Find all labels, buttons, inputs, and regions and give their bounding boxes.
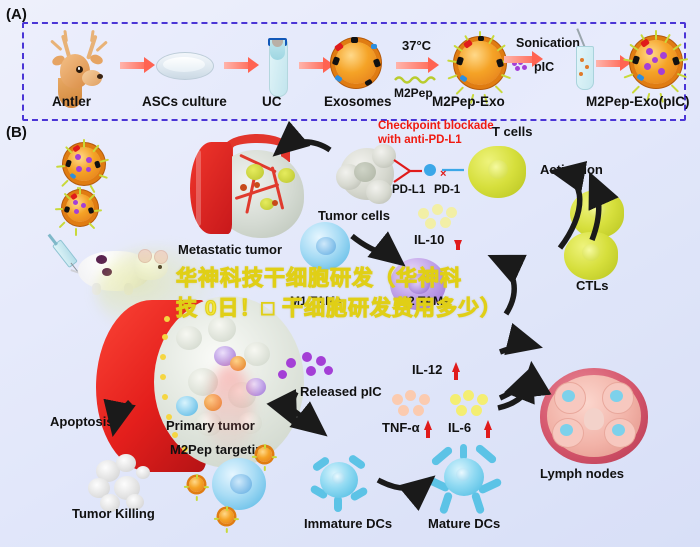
arrow-sonication-to-product	[596, 60, 622, 67]
sonication-tube-contents	[578, 56, 590, 82]
apoptotic-cell-debris	[88, 454, 154, 514]
panel-a-tag: (A)	[6, 6, 27, 23]
il6-cytokine-dots	[450, 390, 494, 418]
arrow-m2pepexo-to-sonication	[504, 56, 534, 63]
watermark-line-2: 技 0日！□ 干细胞研发费用多少）	[176, 292, 502, 322]
tumor-cells-mass	[336, 144, 400, 204]
label-il10: IL-10	[414, 232, 444, 247]
immature-dc-cell	[308, 450, 370, 510]
figure-canvas: (A) Antler ASCs culture	[0, 0, 700, 547]
label-il12: IL-12	[412, 362, 442, 377]
metastatic-tumor-illustration	[190, 138, 308, 242]
label-mature-dcs: Mature DCs	[428, 516, 500, 531]
mature-dc-cell	[428, 444, 500, 512]
released-pic-dots	[284, 350, 344, 380]
label-il6: IL-6	[448, 420, 471, 435]
arrow-culture-to-uc	[224, 62, 250, 69]
il10-cytokine-dots	[418, 204, 462, 230]
panel-b-container: Metastatic tumor Tumor cells Checkpoint …	[0, 118, 700, 547]
panel-a-caption-ascs: ASCs culture	[142, 94, 227, 109]
label-activation: Activation	[540, 162, 603, 177]
panel-a-caption-exosomes: Exosomes	[324, 94, 392, 109]
label-tumor-killing: Tumor Killing	[72, 506, 155, 521]
targeting-nanoparticle-3	[216, 506, 238, 528]
label-tumor-cells: Tumor cells	[318, 208, 390, 223]
label-lymph-nodes: Lymph nodes	[540, 466, 624, 481]
label-metastatic-tumor: Metastatic tumor	[178, 242, 282, 257]
targeting-nanoparticle-2	[186, 474, 208, 496]
tnfa-cytokine-dots	[392, 390, 436, 418]
label-pd1: PD-1	[434, 184, 460, 196]
m2pep-exo-pic-particle	[624, 30, 688, 94]
targeting-nanoparticle-1	[254, 444, 276, 466]
ctl-cell-2	[562, 230, 620, 282]
checkpoint-note-line1: Checkpoint blockade	[378, 120, 494, 133]
watermark-line-1: 华神科技干细胞研发（华神科	[176, 262, 462, 292]
label-ctls: CTLs	[576, 278, 609, 293]
m2pep-label: M2Pep	[394, 86, 433, 100]
m2pep-squiggle-icon	[394, 74, 438, 84]
arrow-exosomes-to-m2pepexo	[396, 62, 430, 69]
injected-nanoparticle-2	[58, 186, 104, 232]
il6-up-arrow	[484, 420, 492, 430]
t-cell-illustration	[466, 144, 528, 200]
panel-a-container: Antler ASCs culture UC E	[22, 22, 686, 121]
blockade-x-mark: ×	[440, 168, 446, 180]
panel-a-caption-uc: UC	[262, 94, 282, 109]
panel-a-caption-m2pepexo: M2Pep-Exo	[432, 94, 505, 109]
label-t-cells: T cells	[492, 124, 532, 139]
arrow-uc-to-exosomes	[299, 62, 325, 69]
label-tnfa: TNF-α	[382, 420, 420, 435]
label-released-pic: Released pIC	[300, 384, 382, 399]
il12-up-arrow	[452, 362, 460, 372]
m2pep-exosome-particle	[448, 32, 512, 94]
label-apoptosis: Apoptosis	[50, 414, 114, 429]
panel-a-caption-m2pepexopic: M2Pep-Exo(pIC)	[586, 94, 690, 109]
injected-nanoparticle-1	[58, 138, 112, 192]
arrow-antler-to-culture	[120, 62, 146, 69]
tnfa-up-arrow	[424, 420, 432, 430]
label-pdl1: PD-L1	[392, 184, 425, 196]
lymph-node-illustration	[540, 368, 648, 464]
sonication-label: Sonication	[516, 36, 580, 50]
checkpoint-note-line2: with anti-PD-L1	[378, 134, 462, 147]
temperature-label: 37°C	[402, 38, 431, 53]
panel-a-caption-antler: Antler	[52, 94, 91, 109]
exosome-particle	[329, 38, 385, 90]
label-immature-dcs: Immature DCs	[304, 516, 392, 531]
il10-down-arrow	[454, 240, 462, 250]
